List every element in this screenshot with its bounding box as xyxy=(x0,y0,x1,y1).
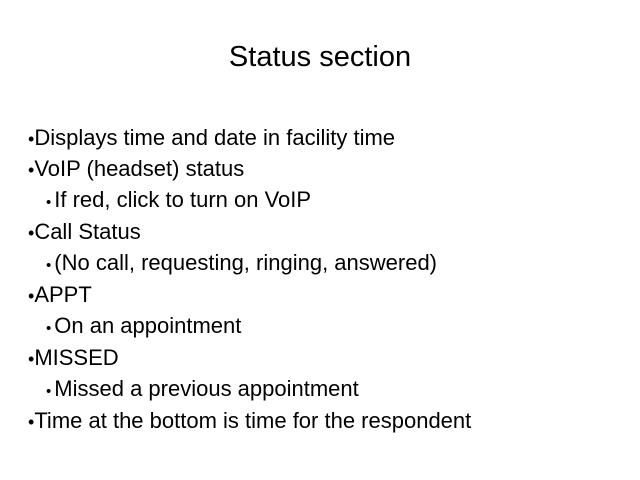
bullet-icon: • xyxy=(46,377,51,406)
bullet-icon: • xyxy=(46,251,51,280)
bullet-icon: • xyxy=(46,188,51,217)
list-item-label: Missed a previous appointment xyxy=(54,376,359,401)
list-item: •(No call, requesting, ringing, answered… xyxy=(28,248,628,280)
bullet-list: •Displays time and date in facility time… xyxy=(28,123,628,437)
list-item-label: Displays time and date in facility time xyxy=(34,125,395,150)
list-item: •Missed a previous appointment xyxy=(28,374,628,406)
list-item: •VoIP (headset) status xyxy=(28,154,628,185)
list-item-label: (No call, requesting, ringing, answered) xyxy=(54,250,437,275)
list-item-label: Call Status xyxy=(34,219,140,244)
list-item: •MISSED xyxy=(28,343,628,374)
list-item: •Displays time and date in facility time xyxy=(28,123,628,154)
list-item-label: APPT xyxy=(34,282,91,307)
presentation-slide: Status section •Displays time and date i… xyxy=(0,0,640,480)
list-item: •On an appointment xyxy=(28,311,628,343)
list-item-label: On an appointment xyxy=(54,313,241,338)
list-item-label: VoIP (headset) status xyxy=(34,156,244,181)
bullet-icon: • xyxy=(46,314,51,343)
list-item-label: MISSED xyxy=(34,345,118,370)
list-item: •Call Status xyxy=(28,217,628,248)
list-item: •APPT xyxy=(28,280,628,311)
list-item: •If red, click to turn on VoIP xyxy=(28,185,628,217)
page-title: Status section xyxy=(0,40,640,74)
list-item-label: Time at the bottom is time for the respo… xyxy=(34,408,471,433)
list-item: •Time at the bottom is time for the resp… xyxy=(28,406,628,437)
list-item-label: If red, click to turn on VoIP xyxy=(54,187,311,212)
